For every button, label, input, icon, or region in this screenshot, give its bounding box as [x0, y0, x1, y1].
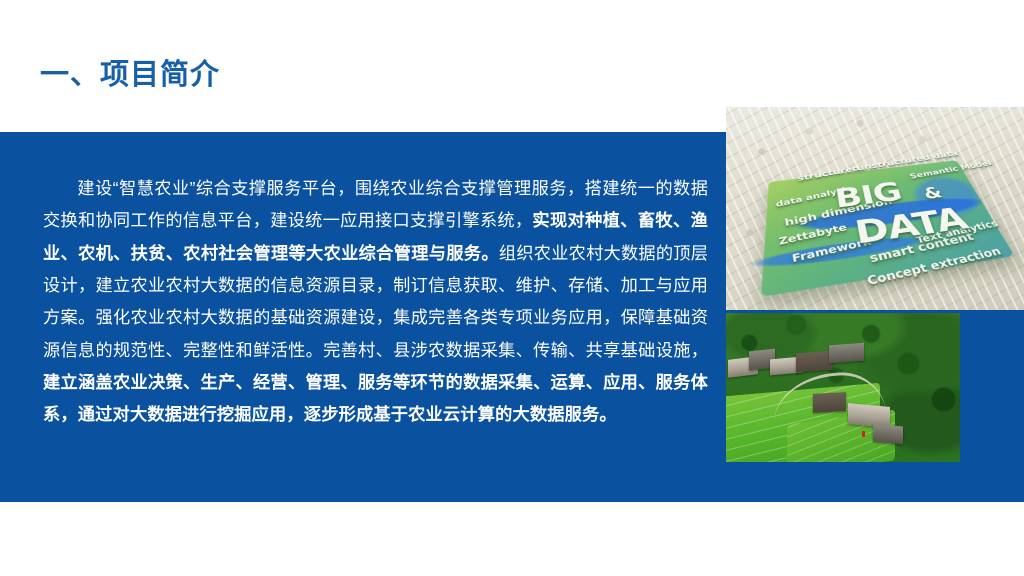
- bigdata-word-cloud: structured unstructured data data analys…: [726, 138, 1024, 310]
- body-paragraph: 建设“智慧农业”综合支撑服务平台，围绕农业综合支撑管理服务，搭建统一的数据交换和…: [43, 172, 708, 430]
- slide-canvas: 一、项目简介 建设“智慧农业”综合支撑服务平台，围绕农业综合支撑管理服务，搭建统…: [0, 0, 1024, 576]
- village-house: [796, 350, 833, 372]
- village-house: [873, 423, 903, 444]
- village-house: [829, 343, 864, 363]
- bigdata-term-1: structured: [796, 164, 860, 183]
- bigdata-ampersand: &: [921, 185, 945, 203]
- big-data-image: structured unstructured data data analys…: [726, 107, 1024, 310]
- paragraph-run-4-bold: 建立涵盖农业决策、生产、经营、管理、服务等环节的数据采集、运算、应用、服务体系，…: [43, 372, 708, 424]
- bigdata-headline-big: BIG: [833, 177, 905, 214]
- page-title: 一、项目简介: [40, 57, 220, 93]
- village-image: [726, 313, 960, 462]
- village-red-accent: [862, 431, 865, 437]
